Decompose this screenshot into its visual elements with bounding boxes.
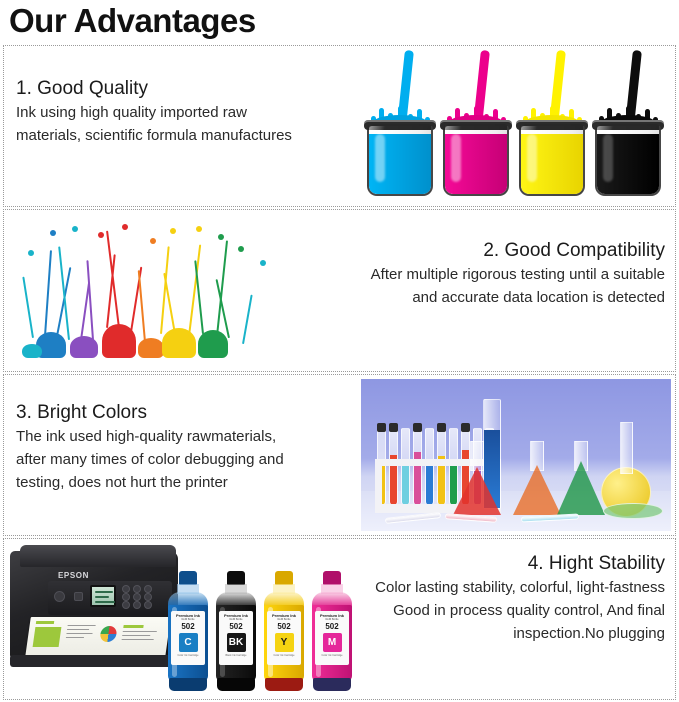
printer-output-tray — [10, 655, 184, 667]
section-2-text-block: 2. Good Compatibility After multiple rig… — [371, 238, 665, 309]
cmyk-ink-jars-photo — [361, 50, 671, 202]
printer-home-button[interactable] — [74, 592, 83, 601]
section-2-body-line-1: After multiple rigorous testing until a … — [371, 263, 665, 286]
epson-printer: EPSON — [10, 551, 178, 659]
section-good-compatibility: 2. Good Compatibility After multiple rig… — [3, 209, 676, 372]
black-bottle-label: Premium Ink Refill Bottle 502 BK Black I… — [219, 611, 253, 665]
section-1-body-line-1: Ink using high quality imported raw — [16, 101, 292, 124]
cyan-bottle-label: Premium Ink Refill Bottle 502 C Color In… — [171, 611, 205, 665]
bottle-code-m: M — [323, 633, 342, 652]
petri-dish — [603, 503, 663, 519]
bottle-footnote-bk: Black Ink Cartridge — [225, 654, 246, 657]
section-4-text-block: 4. Hight Stability Color lasting stabili… — [375, 551, 665, 645]
bottle-footnote-c: Color Ink Cartridge — [178, 654, 199, 657]
bottle-code-c: C — [179, 633, 198, 652]
printer-lcd-screen — [90, 585, 116, 607]
yellow-bottle-label: Premium Ink Refill Bottle 502 Y Color In… — [267, 611, 301, 665]
bottle-model-y: 502 — [277, 622, 290, 632]
section-3-text-block: 3. Bright Colors The ink used high-quali… — [16, 400, 284, 494]
section-1-text-block: 1. Good Quality Ink using high quality i… — [16, 76, 292, 147]
magenta-bottle-label: Premium Ink Refill Bottle 502 M Color In… — [315, 611, 349, 665]
black-ink-jar — [595, 118, 661, 196]
section-1-body-line-2: materials, scientific formula manufactur… — [16, 124, 292, 147]
cyan-ink-bottle: Premium Ink Refill Bottle 502 C Color In… — [168, 571, 208, 691]
erlenmeyer-flask-green — [557, 429, 605, 515]
erlenmeyer-flask-red — [453, 441, 501, 515]
yellow-ink-jar — [519, 118, 585, 196]
bottle-model-m: 502 — [325, 622, 338, 632]
printer-and-ink-bottles-photo: EPSON — [8, 543, 356, 695]
section-2-body-line-2: and accurate data location is detected — [371, 286, 665, 309]
section-4-body-line-3: inspection.No plugging — [375, 622, 665, 645]
yellow-ink-bottle: Premium Ink Refill Bottle 502 Y Color In… — [264, 571, 304, 691]
magenta-ink-bottle: Premium Ink Refill Bottle 502 M Color In… — [312, 571, 352, 691]
section-3-body-line-3: testing, does not hurt the printer — [16, 471, 284, 494]
page-title: Our Advantages — [9, 1, 256, 41]
section-3-heading: 3. Bright Colors — [16, 400, 284, 425]
section-bright-colors: 3. Bright Colors The ink used high-quali… — [3, 374, 676, 536]
bottle-footnote-m: Color Ink Cartridge — [322, 654, 343, 657]
laboratory-glassware-photo — [361, 379, 671, 531]
bottle-model-bk: 502 — [229, 622, 242, 632]
section-hight-stability: 4. Hight Stability Color lasting stabili… — [3, 538, 676, 700]
printer-power-button[interactable] — [54, 591, 65, 602]
printer-keypad[interactable] — [122, 585, 162, 609]
black-ink-bottle: Premium Ink Refill Bottle 502 BK Black I… — [216, 571, 256, 691]
bottle-code-bk: BK — [227, 633, 246, 652]
cyan-ink-jar — [367, 118, 433, 196]
bottle-code-y: Y — [275, 633, 294, 652]
section-good-quality: 1. Good Quality Ink using high quality i… — [3, 45, 676, 207]
magenta-ink-jar — [443, 118, 509, 196]
printed-output-page — [25, 617, 171, 657]
erlenmeyer-flask-orange — [513, 437, 561, 515]
printer-brand-label: EPSON — [58, 571, 89, 580]
section-4-heading: 4. Hight Stability — [375, 551, 665, 576]
advantages-infographic: Our Advantages 1. Good Quality Ink using… — [0, 0, 679, 702]
color-ink-splash-photo — [10, 216, 302, 366]
printer-lid — [20, 545, 176, 567]
section-1-heading: 1. Good Quality — [16, 76, 292, 101]
section-3-body-line-1: The ink used high-quality rawmaterials, — [16, 425, 284, 448]
section-4-body-line-1: Color lasting stability, colorful, light… — [375, 576, 665, 599]
section-3-body-line-2: after many times of color debugging and — [16, 448, 284, 471]
section-4-body-line-2: Good in process quality control, And fin… — [375, 599, 665, 622]
bottle-model-c: 502 — [181, 622, 194, 632]
bottle-footnote-y: Color Ink Cartridge — [274, 654, 295, 657]
section-2-heading: 2. Good Compatibility — [371, 238, 665, 263]
